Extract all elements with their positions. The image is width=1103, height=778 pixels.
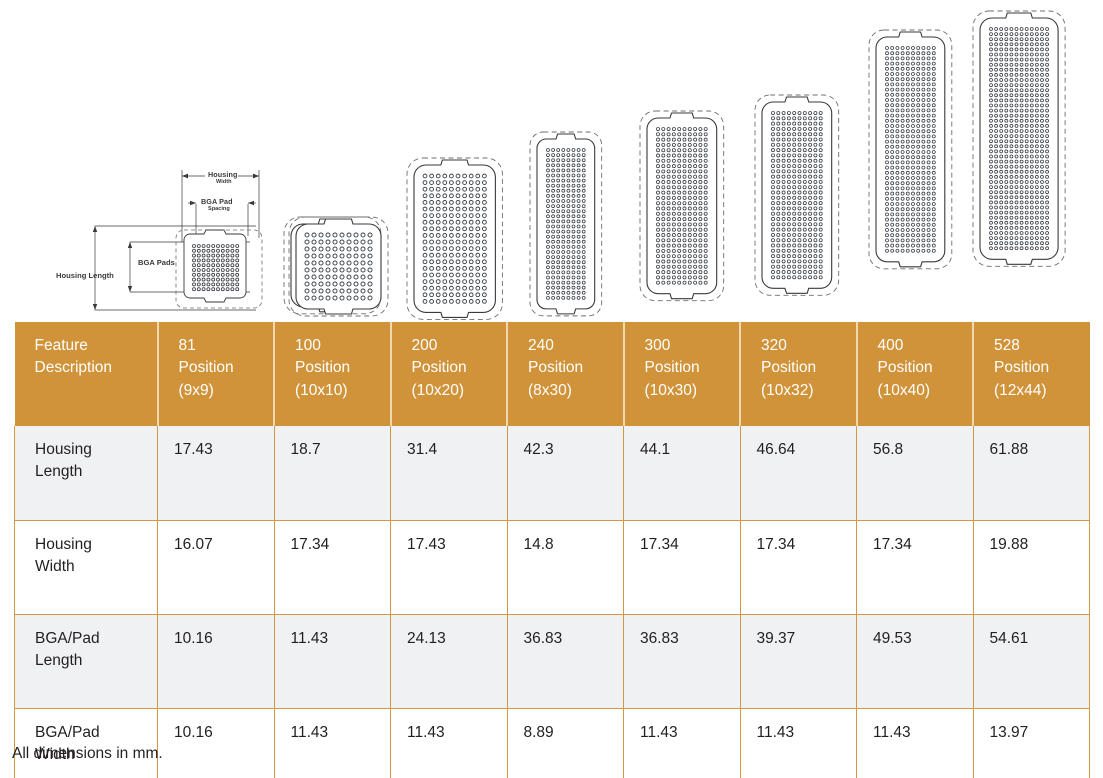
- table-header-row: FeatureDescription81Position(9x9)100Posi…: [15, 322, 1090, 426]
- row-feature-line: Length: [35, 650, 145, 672]
- cell-p200: 24.13: [391, 614, 508, 708]
- column-header-line: Position: [528, 357, 611, 379]
- column-header-line: 240: [528, 335, 611, 357]
- column-header-line: Position: [645, 357, 728, 379]
- row-feature-line: Housing: [35, 439, 145, 461]
- spec-sheet-page: Housing Width BGA Pad Spacing BGA Pads H…: [0, 0, 1103, 778]
- row-feature-label: BGA/PadLength: [15, 614, 158, 708]
- cell-p100: 11.43: [274, 614, 391, 708]
- footnote-dimensions: All dimensions in mm.: [12, 745, 163, 763]
- row-feature-line: Length: [35, 461, 145, 483]
- cell-p300: 44.1: [624, 426, 741, 520]
- column-header-line: Position: [761, 357, 844, 379]
- column-header-line: 100: [295, 335, 378, 357]
- column-header-line: 81: [179, 335, 262, 357]
- column-header-p400: 400Position(10x40): [857, 322, 974, 426]
- label-bga-pads: BGA Pads: [138, 259, 175, 267]
- column-header-line: (10x40): [878, 380, 961, 402]
- cell-p240: 8.89: [507, 708, 624, 778]
- cell-p200: 17.43: [391, 520, 508, 614]
- column-header-line: Feature: [35, 335, 145, 357]
- cell-p528: 19.88: [973, 520, 1090, 614]
- table-row: BGA/PadLength10.1611.4324.1336.8336.8339…: [15, 614, 1090, 708]
- cell-p81: 16.07: [158, 520, 275, 614]
- label-housing-width: Housing: [208, 171, 237, 178]
- cell-p528: 54.61: [973, 614, 1090, 708]
- table-row: HousingWidth16.0717.3417.4314.817.3417.3…: [15, 520, 1090, 614]
- cell-p81: 10.16: [158, 708, 275, 778]
- row-feature-label: HousingWidth: [15, 520, 158, 614]
- column-header-line: 400: [878, 335, 961, 357]
- connector-400: [866, 27, 955, 272]
- cell-p81: 17.43: [158, 426, 275, 520]
- column-header-p300: 300Position(10x30): [624, 322, 741, 426]
- cell-p300: 36.83: [624, 614, 741, 708]
- cell-p100: 17.34: [274, 520, 391, 614]
- connector-240: [527, 129, 605, 319]
- connector-300: [637, 108, 727, 304]
- table-row: HousingLength17.4318.731.442.344.146.645…: [15, 426, 1090, 520]
- cell-p320: 46.64: [740, 426, 857, 520]
- cell-p400: 49.53: [857, 614, 974, 708]
- column-header-p528: 528Position(12x44): [973, 322, 1090, 426]
- column-header-line: (12x44): [994, 380, 1078, 402]
- cell-p200: 31.4: [391, 426, 508, 520]
- row-feature-line: BGA/Pad: [35, 722, 145, 744]
- column-header-line: Position: [878, 357, 961, 379]
- table-header: FeatureDescription81Position(9x9)100Posi…: [15, 322, 1090, 426]
- label-bga-pad-sub: Spacing: [208, 207, 230, 213]
- column-header-line: Position: [295, 357, 378, 379]
- column-header-p100: 100Position(10x10): [274, 322, 391, 426]
- column-header-line: (10x32): [761, 380, 844, 402]
- table-body: HousingLength17.4318.731.442.344.146.645…: [15, 426, 1090, 778]
- cell-p528: 13.97: [973, 708, 1090, 778]
- connector-320: [752, 92, 842, 298]
- dimension-callout-diagram: Housing Width BGA Pad Spacing BGA Pads H…: [60, 160, 290, 320]
- column-header-line: 320: [761, 335, 844, 357]
- column-header-p240: 240Position(8x30): [507, 322, 624, 426]
- cell-p320: 39.37: [740, 614, 857, 708]
- column-header-feature: FeatureDescription: [15, 322, 158, 426]
- column-header-line: (10x20): [412, 380, 495, 402]
- cell-p400: 56.8: [857, 426, 974, 520]
- row-feature-label: BGA/PadWidth: [15, 708, 158, 778]
- connector-200: [404, 155, 505, 322]
- column-header-line: Description: [35, 357, 145, 379]
- cell-p240: 42.3: [507, 426, 624, 520]
- column-header-line: (10x30): [645, 380, 728, 402]
- column-header-line: 200: [412, 335, 495, 357]
- column-header-line: (9x9): [179, 380, 262, 402]
- connector-528: [970, 8, 1068, 269]
- column-header-p200: 200Position(10x20): [391, 322, 508, 426]
- row-feature-line: BGA/Pad: [35, 628, 145, 650]
- cell-p81: 10.16: [158, 614, 275, 708]
- column-header-p320: 320Position(10x32): [740, 322, 857, 426]
- cell-p100: 11.43: [274, 708, 391, 778]
- label-housing-width-sub: Width: [216, 180, 231, 186]
- cell-p240: 36.83: [507, 614, 624, 708]
- row-feature-label: HousingLength: [15, 426, 158, 520]
- label-bga-pad: BGA Pad: [201, 198, 233, 205]
- cell-p200: 11.43: [391, 708, 508, 778]
- column-header-line: 300: [645, 335, 728, 357]
- column-header-line: (10x10): [295, 380, 378, 402]
- cell-p320: 11.43: [740, 708, 857, 778]
- cell-p400: 17.34: [857, 520, 974, 614]
- row-feature-line: Housing: [35, 534, 145, 556]
- cell-p400: 11.43: [857, 708, 974, 778]
- cell-p320: 17.34: [740, 520, 857, 614]
- cell-p240: 14.8: [507, 520, 624, 614]
- column-header-line: Position: [994, 357, 1078, 379]
- column-header-line: 528: [994, 335, 1078, 357]
- specification-table: FeatureDescription81Position(9x9)100Posi…: [14, 322, 1090, 778]
- label-housing-length: Housing Length: [56, 272, 114, 280]
- connector-100: [286, 214, 391, 319]
- table-row: BGA/PadWidth10.1611.4311.438.8911.4311.4…: [15, 708, 1090, 778]
- cell-p100: 18.7: [274, 426, 391, 520]
- cell-p300: 11.43: [624, 708, 741, 778]
- column-header-line: Position: [412, 357, 495, 379]
- column-header-p81: 81Position(9x9): [158, 322, 275, 426]
- cell-p528: 61.88: [973, 426, 1090, 520]
- column-header-line: Position: [179, 357, 262, 379]
- cell-p300: 17.34: [624, 520, 741, 614]
- row-feature-line: Width: [35, 556, 145, 578]
- column-header-line: (8x30): [528, 380, 611, 402]
